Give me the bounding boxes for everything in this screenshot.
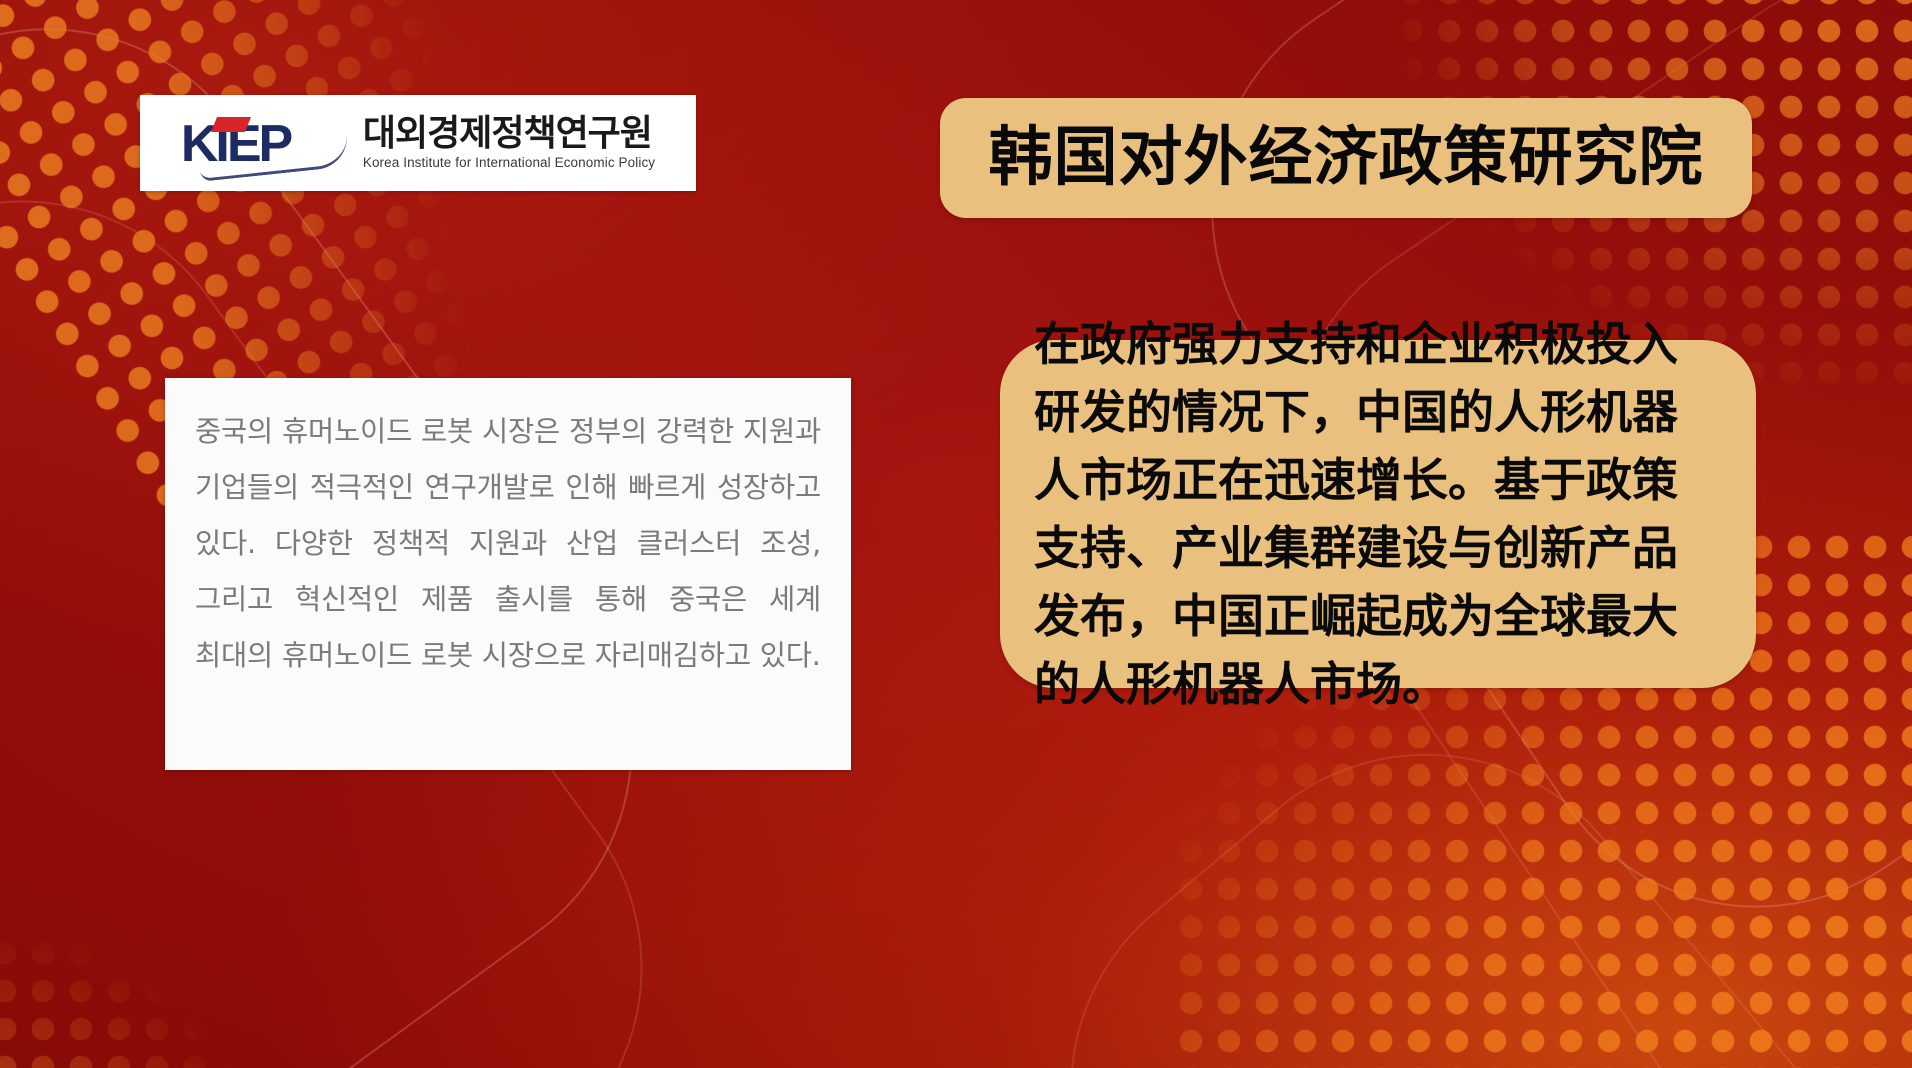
kiep-logo-card: KIEP 대외경제정책연구원 Korea Institute for Inter… [140, 95, 696, 191]
kiep-korean-name: 대외경제정책연구원 [363, 114, 655, 154]
slide-root: KIEP 대외경제정책연구원 Korea Institute for Inter… [0, 0, 1912, 1068]
background-curve-line [976, 660, 1912, 1068]
chinese-text-card: 在政府强力支持和企业积极投入研发的情况下，中国的人形机器人市场正在迅速增长。基于… [1000, 340, 1756, 688]
kiep-red-slash-icon [211, 117, 251, 132]
page-title: 韩国对外经济政策研究院 [989, 126, 1704, 190]
kiep-logo-icon: KIEP [181, 115, 349, 173]
kiep-logo: KIEP 대외경제정책연구원 Korea Institute for Inter… [155, 114, 681, 173]
korean-text-card: 중국의 휴머노이드 로봇 시장은 정부의 강력한 지원과 기업들의 적극적인 연… [165, 378, 851, 770]
kiep-english-name: Korea Institute for International Econom… [363, 155, 655, 171]
chinese-body-text: 在政府强力支持和企业积极投入研发的情况下，中国的人形机器人市场正在迅速增长。基于… [1034, 310, 1722, 718]
title-banner: 韩国对外经济政策研究院 [940, 98, 1752, 218]
korean-body-text: 중국의 휴머노이드 로봇 시장은 정부의 강력한 지원과 기업들의 적극적인 연… [195, 404, 821, 684]
kiep-logo-wordmark: 대외경제정책연구원 Korea Institute for Internatio… [363, 114, 655, 173]
halftone-dots-bottom-left [0, 858, 330, 1068]
